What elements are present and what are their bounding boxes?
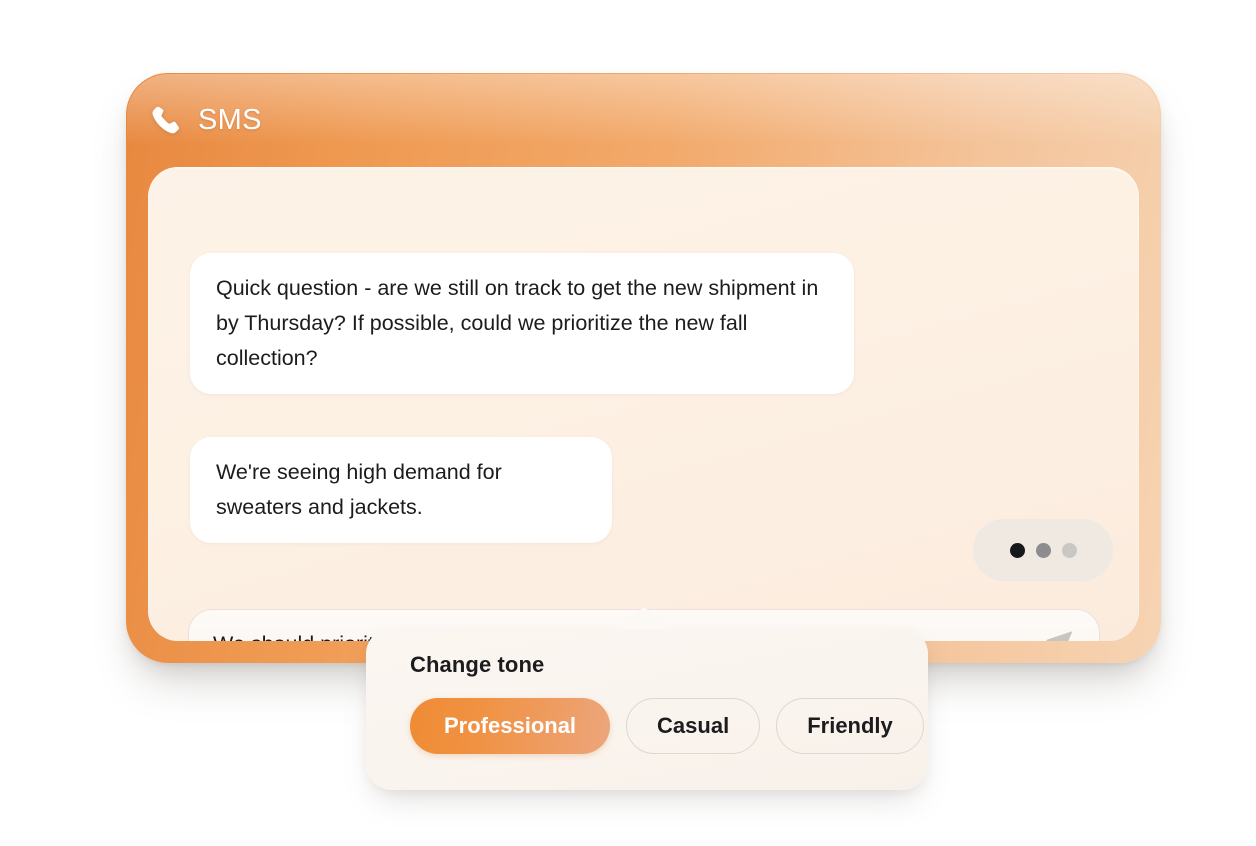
tone-option-professional[interactable]: Professional xyxy=(410,698,610,754)
sms-card: SMS Quick question - are we still on tra… xyxy=(126,73,1161,663)
header-title: SMS xyxy=(198,104,262,137)
tone-option-friendly[interactable]: Friendly xyxy=(776,698,924,754)
typing-dot-2 xyxy=(1036,543,1051,558)
popover-arrow xyxy=(616,607,672,629)
popover-title: Change tone xyxy=(410,652,900,678)
typing-dot-3 xyxy=(1062,543,1077,558)
tone-option-casual[interactable]: Casual xyxy=(626,698,760,754)
phone-handset-icon xyxy=(150,104,184,138)
change-tone-popover: Change tone Professional Casual Friendly xyxy=(366,628,928,790)
typing-dot-1 xyxy=(1010,543,1025,558)
message-bubble: We're seeing high demand for sweaters an… xyxy=(190,437,612,543)
conversation-panel: Quick question - are we still on track t… xyxy=(148,167,1139,641)
message-bubble: Quick question - are we still on track t… xyxy=(190,253,854,394)
send-paper-plane-icon[interactable] xyxy=(1041,627,1075,641)
tone-options: Professional Casual Friendly xyxy=(410,698,900,754)
card-header: SMS xyxy=(126,73,1161,168)
typing-indicator xyxy=(973,519,1113,581)
